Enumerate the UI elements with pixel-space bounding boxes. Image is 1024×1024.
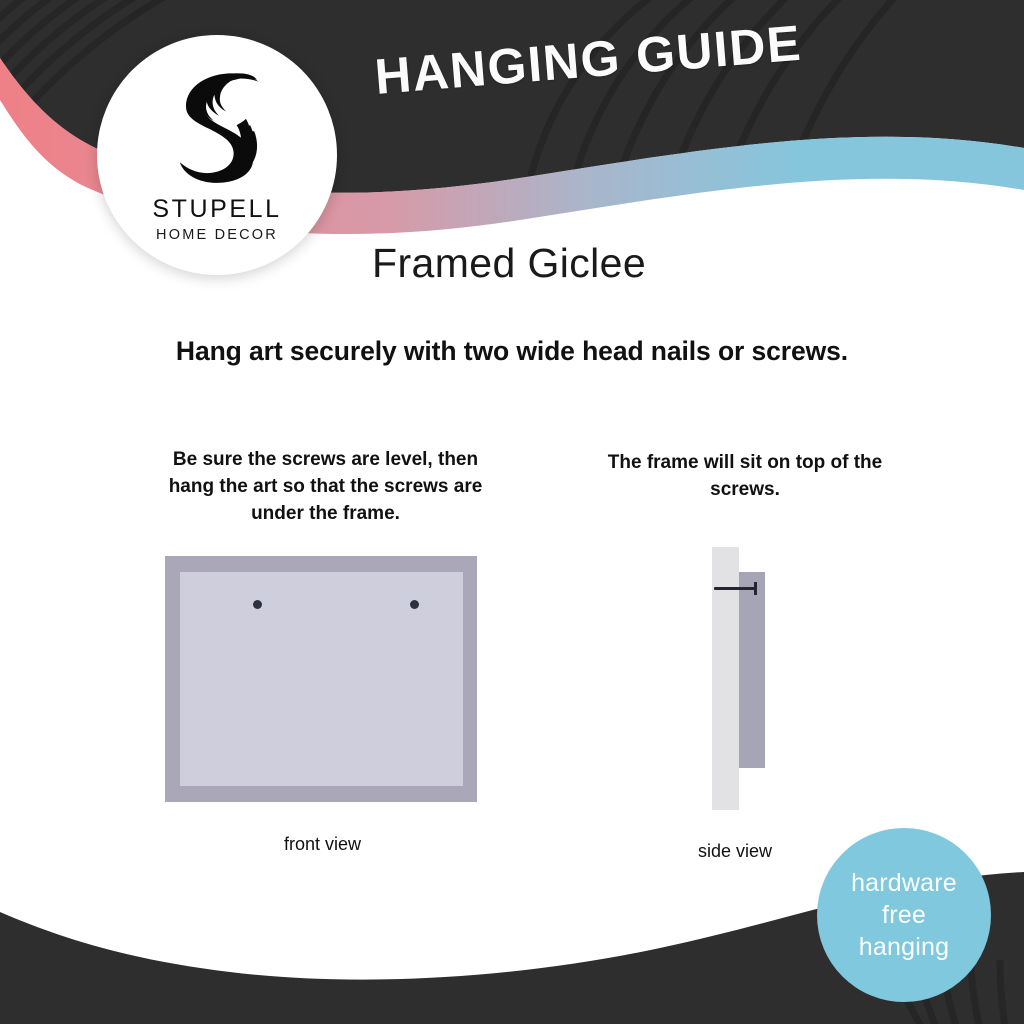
nail-screw-icon	[714, 587, 756, 590]
front-view-caption: Be sure the screws are level, then hang …	[158, 447, 493, 528]
hardware-free-hanging-badge: hardware free hanging	[817, 828, 991, 1002]
logo-subwordmark: HOME DECOR	[97, 227, 337, 243]
front-view-frame-diagram	[165, 556, 477, 802]
hanging-guide-page: STUPELL HOME DECOR HANGING GUIDE Framed …	[0, 0, 1024, 1024]
logo-wordmark: STUPELL	[97, 195, 337, 224]
badge-line-1: hardware	[851, 867, 957, 899]
side-view-frame-diagram	[706, 540, 786, 820]
nail-head-icon	[754, 582, 757, 595]
page-title: HANGING GUIDE	[373, 6, 896, 106]
badge-line-3: hanging	[859, 931, 949, 963]
main-instruction-text: Hang art securely with two wide head nai…	[0, 336, 1024, 367]
stupell-s-swoosh-icon	[155, 61, 279, 185]
front-view-label: front view	[165, 834, 480, 855]
stupell-logo-badge: STUPELL HOME DECOR	[97, 35, 337, 275]
product-type-title: Framed Giclee	[372, 240, 646, 287]
side-view-label: side view	[640, 841, 830, 862]
screw-dot-right	[410, 600, 419, 609]
badge-line-2: free	[882, 899, 926, 931]
frame-mat-area	[180, 572, 463, 786]
frame-panel	[739, 572, 765, 768]
screw-dot-left	[253, 600, 262, 609]
side-view-caption: The frame will sit on top of the screws.	[595, 450, 895, 504]
